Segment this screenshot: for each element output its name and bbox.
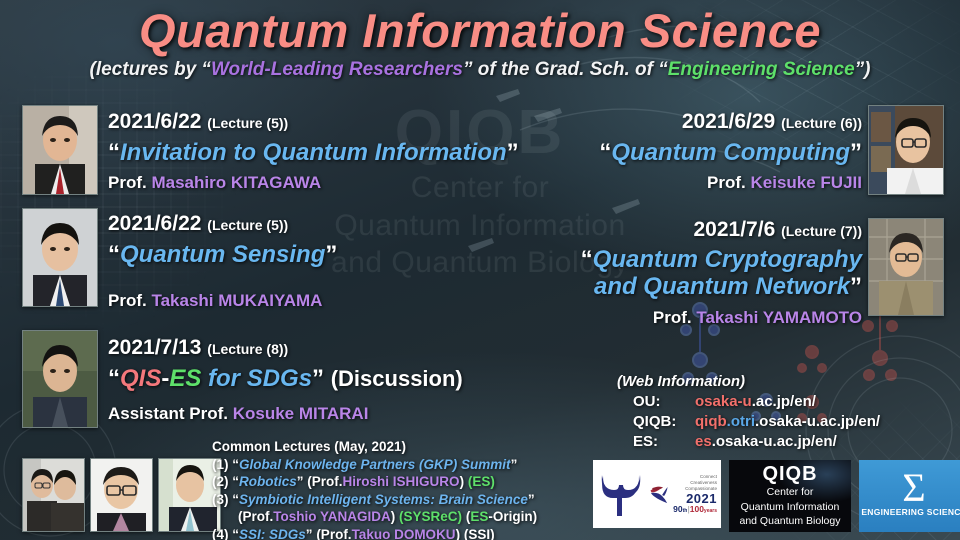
item-2-presenter-prefix: (Prof.	[307, 474, 342, 489]
web-label-ou: OU:	[633, 392, 695, 412]
item-4-title: SSI: SDGs	[239, 527, 306, 540]
item-2-close: )	[460, 474, 465, 489]
web-url-ou[interactable]: osaka-u.ac.jp/en/	[695, 392, 880, 412]
speaker-name: Kosuke MITARAI	[233, 404, 369, 423]
web-label-es: ES:	[633, 432, 695, 452]
common-lectures-heading: Common Lectures (May, 2021)	[212, 438, 537, 456]
speaker-name: Masahiro KITAGAWA	[151, 173, 321, 192]
portrait-mitarai	[22, 330, 98, 428]
qiqb-logo: QIQB Center for Quantum Information and …	[729, 460, 851, 532]
item-4-presenter: Takuo DOMOKU	[352, 527, 456, 540]
lecture-title: “QIS-ES for SDGs” (Discussion)	[108, 366, 463, 393]
lecture-speaker: Prof. Takashi MUKAIYAMA	[108, 291, 337, 311]
subtitle-highlight-researchers: World-Leading Researchers	[211, 59, 463, 80]
lecture-title: “Quantum Sensing”	[108, 242, 337, 269]
speaker-title: Prof.	[108, 173, 147, 192]
web-url-qiqb-highlight: qiqb	[695, 413, 727, 430]
subtitle-highlight-engineering-science: Engineering Science	[668, 59, 855, 80]
common-lecturers-photo-strip	[22, 458, 221, 532]
osaka-university-mark-icon	[597, 468, 645, 520]
lecture-date: 2021/7/6 (Lecture (7))	[581, 218, 862, 242]
speaker-title: Prof.	[653, 308, 692, 327]
lecture-title-qis: QIS	[120, 365, 161, 392]
web-information-block: (Web Information) OU: osaka-u.ac.jp/en/ …	[617, 372, 880, 452]
quote-open: “	[581, 246, 593, 273]
web-url-ou-rest: .ac.jp/en/	[752, 393, 816, 410]
quote-open: “	[232, 474, 239, 489]
lecture-speaker: Prof. Takashi YAMAMOTO	[581, 308, 862, 328]
item-3-tag-2-highlight: ES	[470, 509, 488, 524]
lecture-number: (Lecture (8))	[207, 341, 288, 357]
portrait-yamamoto	[868, 218, 944, 316]
quote-open: “	[108, 365, 120, 392]
anniversary-counts: 90th|100years	[673, 505, 717, 514]
lecture-date: 2021/7/13 (Lecture (8))	[108, 336, 463, 360]
quote-open: “	[108, 139, 120, 166]
lecture-date-value: 2021/7/13	[108, 336, 201, 359]
web-url-es-highlight: es	[695, 433, 712, 450]
lecture-entry-fujii: 2021/6/29 (Lecture (6)) “Quantum Computi…	[599, 110, 862, 193]
lecture-title-text: Quantum Computing	[611, 139, 850, 166]
qiqb-logo-acronym: QIQB	[729, 464, 851, 484]
page-subtitle: (lectures by “World-Leading Researchers”…	[0, 59, 960, 81]
item-3-line2-prefix: (Prof.	[238, 509, 273, 524]
engineering-science-logo: Σ ENGINEERING SCIENCE	[859, 460, 960, 532]
portrait-kitagawa	[22, 105, 98, 195]
speaker-title: Prof.	[108, 291, 147, 310]
quote-close: ”	[312, 365, 324, 392]
lecture-entry-mitarai: 2021/7/13 (Lecture (8)) “QIS-ES for SDGs…	[108, 336, 463, 424]
web-url-es[interactable]: es.osaka-u.ac.jp/en/	[695, 432, 880, 452]
item-2-title: Robotics	[239, 474, 297, 489]
lecture-entry-mukaiyama: 2021/6/22 (Lecture (5)) “Quantum Sensing…	[108, 212, 337, 311]
portrait-fujii-image	[869, 106, 943, 194]
lecture-title-es: ES	[169, 365, 201, 392]
sigma-icon: Σ	[902, 471, 925, 505]
lecture-date-value: 2021/6/22	[108, 212, 201, 235]
item-4-number: (4)	[212, 527, 229, 540]
portrait-fujii	[868, 105, 944, 195]
lecture-number: (Lecture (5))	[207, 115, 288, 131]
quote-close: ”	[528, 492, 535, 507]
speaker-title: Assistant Prof.	[108, 404, 228, 423]
lecture-title-text: Quantum Sensing	[120, 241, 325, 268]
quote-open: “	[599, 139, 611, 166]
item-4-tag: (SSI)	[464, 527, 495, 540]
web-url-ou-highlight: osaka-u	[695, 393, 752, 410]
item-3-title: Symbiotic Intelligent Systems: Brain Sci…	[239, 492, 528, 507]
logo-row: Connect Creativeness Compassionate 2021 …	[593, 460, 960, 532]
osaka-university-logo: Connect Creativeness Compassionate 2021 …	[593, 460, 721, 528]
web-url-es-rest: .osaka-u.ac.jp/en/	[712, 433, 837, 450]
portrait-mukaiyama-image	[23, 209, 97, 306]
item-3-tag-1: (SYSReC)	[399, 509, 462, 524]
quote-close: ”	[306, 527, 313, 540]
common-lecture-item-3: (3) “Symbiotic Intelligent Systems: Brai…	[212, 491, 537, 509]
web-url-qiqb-highlight2: .otri	[727, 413, 755, 430]
osaka-university-anniversary: Connect Creativeness Compassionate 2021 …	[673, 474, 717, 513]
speaker-name: Takashi MUKAIYAMA	[151, 291, 322, 310]
portrait-ishiguro-image	[91, 459, 152, 531]
subtitle-mid: ” of the Grad. Sch. of “	[463, 59, 668, 80]
lecture-entry-yamamoto: 2021/7/6 (Lecture (7)) “Quantum Cryptogr…	[581, 218, 862, 328]
anniv-90: 90	[673, 504, 682, 514]
common-lecture-item-3-line-2: (Prof.Toshio YANAGIDA) (SYSReC) (ES-Orig…	[238, 508, 537, 526]
web-information-heading: (Web Information)	[617, 372, 880, 392]
web-url-qiqb-rest: .osaka-u.ac.jp/en/	[755, 413, 880, 430]
lecture-speaker: Assistant Prof. Kosuke MITARAI	[108, 404, 463, 424]
portrait-mitarai-image	[23, 331, 97, 427]
qiqb-logo-line-1: Center for	[729, 487, 851, 499]
item-4-close: )	[456, 527, 461, 540]
lecture-date: 2021/6/22 (Lecture (5))	[108, 110, 519, 134]
quote-close: ”	[511, 457, 518, 472]
item-1-number: (1)	[212, 457, 229, 472]
subtitle-pre: (lectures by “	[90, 59, 211, 80]
item-4-presenter-prefix: (Prof.	[316, 527, 351, 540]
lecture-title-suffix: (Discussion)	[331, 366, 463, 391]
osaka-university-tagline: Connect Creativeness Compassionate	[685, 474, 717, 491]
lecture-speaker: Prof. Masahiro KITAGAWA	[108, 173, 519, 193]
common-lectures-block: Common Lectures (May, 2021) (1) “Global …	[212, 438, 537, 540]
lecture-date: 2021/6/29 (Lecture (6))	[599, 110, 862, 134]
item-3-presenter: Toshio YANAGIDA	[273, 509, 391, 524]
speaker-name: Keisuke FUJII	[751, 173, 863, 192]
quote-open: “	[232, 492, 239, 507]
lecture-date-value: 2021/6/29	[682, 110, 775, 133]
item-3-tag-2: (ES-Origin)	[466, 509, 537, 524]
web-url-qiqb[interactable]: qiqb.otri.osaka-u.ac.jp/en/	[695, 412, 880, 432]
qiqb-logo-line-3: and Quantum Biology	[729, 516, 851, 528]
portrait-gkp-pair-image	[23, 459, 84, 531]
engineering-science-label: ENGINEERING SCIENCE	[861, 507, 960, 517]
item-2-presenter: Hiroshi ISHIGURO	[343, 474, 460, 489]
item-3-tag-2-rest: -Origin)	[488, 509, 537, 524]
lecture-entry-kitagawa: 2021/6/22 (Lecture (5)) “Invitation to Q…	[108, 110, 519, 193]
portrait-yamamoto-image	[869, 219, 943, 315]
web-label-qiqb: QIQB:	[633, 412, 695, 432]
item-3-close: )	[391, 509, 396, 524]
item-2-number: (2)	[212, 474, 229, 489]
lecture-title: “Quantum Computing”	[599, 140, 862, 167]
quote-open: “	[232, 457, 239, 472]
portrait-gkp-pair	[22, 458, 85, 532]
item-3-number: (3)	[212, 492, 229, 507]
common-lecture-item-4: (4) “SSI: SDGs” (Prof.Takuo DOMOKU) (SSI…	[212, 526, 537, 540]
quote-close: ”	[325, 241, 337, 268]
lecture-number: (Lecture (6))	[781, 115, 862, 131]
lecture-speaker: Prof. Keisuke FUJII	[599, 173, 862, 193]
lecture-title-rest: for SDGs	[208, 365, 312, 392]
osaka-university-bird-icon	[649, 474, 669, 514]
lecture-title: “Invitation to Quantum Information”	[108, 140, 519, 167]
tagline-line-2: Creativeness	[685, 480, 717, 486]
portrait-mukaiyama	[22, 208, 98, 307]
quote-close: ”	[297, 474, 304, 489]
quote-close: ”	[850, 273, 862, 300]
portrait-ishiguro	[90, 458, 153, 532]
anniv-100-sub: years	[704, 508, 717, 514]
lecture-title: “Quantum Cryptography	[581, 247, 862, 274]
common-lecture-item-2: (2) “Robotics” (Prof.Hiroshi ISHIGURO) (…	[212, 473, 537, 491]
speaker-name: Takashi YAMAMOTO	[696, 308, 862, 327]
lecture-date: 2021/6/22 (Lecture (5))	[108, 212, 337, 236]
common-lecture-item-1: (1) “Global Knowledge Partners (GKP) Sum…	[212, 456, 537, 474]
lecture-title-line-1: Quantum Cryptography	[593, 246, 862, 273]
quote-close: ”	[850, 139, 862, 166]
portrait-yanagida-image	[159, 459, 220, 531]
item-1-title: Global Knowledge Partners (GKP) Summit	[239, 457, 511, 472]
item-2-tag: (ES)	[468, 474, 495, 489]
lecture-date-value: 2021/6/22	[108, 110, 201, 133]
lecture-title-text: Invitation to Quantum Information	[120, 139, 507, 166]
speaker-title: Prof.	[707, 173, 746, 192]
lecture-title-line-2-wrap: and Quantum Network”	[581, 274, 862, 301]
quote-open: “	[232, 527, 239, 540]
lecture-number: (Lecture (5))	[207, 217, 288, 233]
lecture-number: (Lecture (7))	[781, 223, 862, 239]
qiqb-logo-line-2: Quantum Information	[729, 502, 851, 514]
portrait-kitagawa-image	[23, 106, 97, 194]
subtitle-post: ”)	[855, 59, 871, 80]
lecture-title-line-2: and Quantum Network	[594, 273, 850, 300]
lecture-date-value: 2021/7/6	[694, 218, 776, 241]
page-title: Quantum Information Science	[0, 3, 960, 58]
web-information-table: OU: osaka-u.ac.jp/en/ QIQB: qiqb.otri.os…	[633, 392, 880, 452]
anniv-100: 100	[690, 504, 704, 514]
quote-close: ”	[507, 139, 519, 166]
poster-canvas: QIQB Center for Quantum Information and …	[0, 0, 960, 540]
quote-open: “	[108, 241, 120, 268]
